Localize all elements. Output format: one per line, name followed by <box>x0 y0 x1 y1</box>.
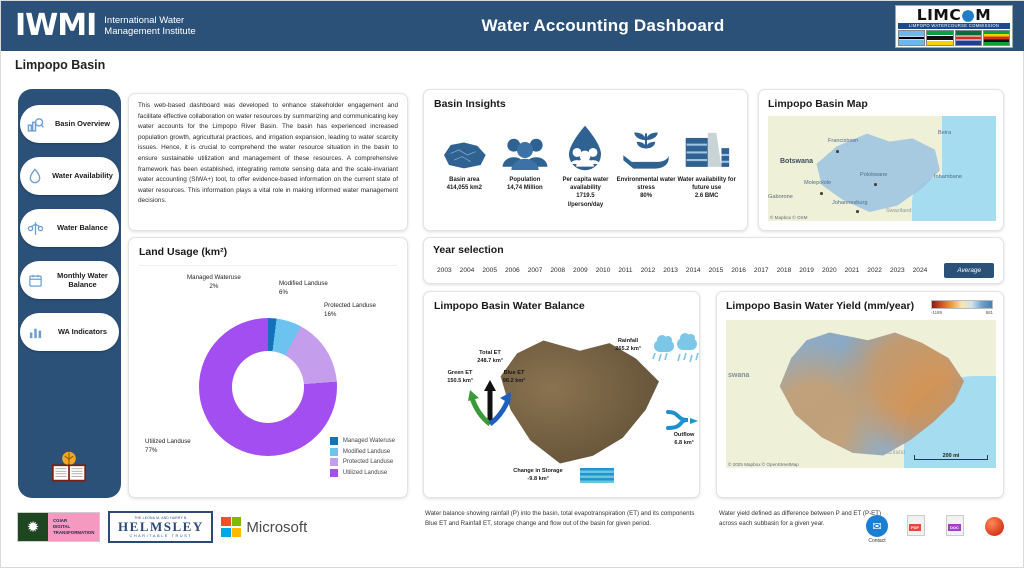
insight-population: Population14,74 Million <box>495 116 556 209</box>
zimbabwe-flag-icon <box>983 30 1010 46</box>
year-button-2018[interactable]: 2018 <box>773 265 796 276</box>
legend-swatch <box>330 448 338 456</box>
year-button-2007[interactable]: 2007 <box>524 265 547 276</box>
hand-plant-icon <box>616 116 677 172</box>
year-button-2017[interactable]: 2017 <box>750 265 773 276</box>
land-usage-title: Land Usage (km²) <box>139 246 397 258</box>
map-label-francistown: Francistown <box>828 138 858 144</box>
scalebar-line <box>914 459 988 460</box>
colorbar-min: -1189 <box>931 310 942 315</box>
year-button-2023[interactable]: 2023 <box>886 265 909 276</box>
water-yield-colorbar: -1189 881 <box>931 300 993 315</box>
book-icon[interactable] <box>48 450 90 484</box>
year-button-2021[interactable]: 2021 <box>841 265 864 276</box>
map-attribution: © 2025 Mapbox © OpenStreetMap <box>728 462 799 467</box>
basin-map-icon <box>434 116 495 172</box>
footer-actions: ✉ Contact PDF DOC <box>862 515 1009 544</box>
pdf-download-icon: PDF <box>907 515 925 536</box>
insight-environmental-water-stress: Environmental water stress80% <box>616 116 677 209</box>
map-label-botswana: Botswana <box>780 158 813 165</box>
legend-label: Utilized Landuse <box>343 470 387 476</box>
microsoft-squares-icon <box>221 517 241 537</box>
year-button-2015[interactable]: 2015 <box>705 265 728 276</box>
app-header: IWMI International Water Management Inst… <box>1 1 1024 51</box>
basin-insights-list: Basin area414,055 km2 Population14,74 Mi… <box>434 116 737 209</box>
microsoft-wordmark: Microsoft <box>246 519 307 536</box>
year-button-2005[interactable]: 2005 <box>478 265 501 276</box>
map-scalebar: 200 mi <box>914 453 988 460</box>
water-balance-diagram: Total ET248.7 km³ Green ET150.5 km³ Blue… <box>434 316 689 491</box>
iwmi-name-line1: International Water <box>104 15 195 26</box>
map-dot <box>874 183 877 186</box>
flow-label-outflow: Outflow6.8 km³ <box>662 432 706 447</box>
rain-cloud-icon <box>654 340 674 352</box>
insight-label: Water availability for future use2.6 BMC <box>676 176 737 201</box>
year-buttons-row: 2003200420052006200720082009201020112012… <box>433 263 994 278</box>
map-attribution: © Mapbox © OSM <box>770 215 807 220</box>
rain-drops-icon <box>652 352 708 368</box>
map-label-molepolole: Molepolole <box>804 180 831 186</box>
sidebar-item-monthly-water-balance[interactable]: Monthly Water Balance <box>20 261 119 299</box>
insight-label: Basin area414,055 km2 <box>434 176 495 192</box>
year-selection-title: Year selection <box>433 244 994 256</box>
insight-basin-area: Basin area414,055 km2 <box>434 116 495 209</box>
legend-label: Managed Wateruse <box>343 438 395 444</box>
water-balance-title: Limpopo Basin Water Balance <box>434 300 689 312</box>
et-arrows-icon <box>456 378 518 426</box>
map-label-beira: Beira <box>938 130 951 136</box>
globe-icon <box>985 517 1004 536</box>
iwmi-name-line2: Management Institute <box>104 26 195 37</box>
report-download-icon: DOC <box>946 515 964 536</box>
basin-overview-icon <box>20 116 50 133</box>
member-country-flags <box>898 30 1010 46</box>
basin-map-canvas[interactable]: Botswana Francistown Beira Polokwane Inh… <box>768 116 996 221</box>
bar-chart-icon <box>20 325 50 340</box>
donut-ring <box>199 318 337 456</box>
dashboard-description-card: This web-based dashboard was developed t… <box>128 93 408 231</box>
sidebar-item-label: Basin Overview <box>50 119 119 129</box>
people-icon <box>495 116 556 172</box>
map-label-polokwane: Polokwane <box>860 172 887 178</box>
year-button-2010[interactable]: 2010 <box>592 265 615 276</box>
droplet-people-icon <box>555 116 616 172</box>
year-button-2020[interactable]: 2020 <box>818 265 841 276</box>
limcom-wordmark: LIMC●M <box>898 7 1010 23</box>
land-usage-donut-chart: Managed Wateruse2% Modified Landuse6% Pr… <box>139 266 397 481</box>
helmsley-main: HELMSLEY <box>118 520 204 534</box>
year-button-2008[interactable]: 2008 <box>546 265 569 276</box>
colorbar-labels: -1189 881 <box>931 310 993 315</box>
year-button-2006[interactable]: 2006 <box>501 265 524 276</box>
year-button-2014[interactable]: 2014 <box>682 265 705 276</box>
limcom-subtitle: LIMPOPO WATERCOURSE COMMISSION <box>898 23 1010 29</box>
colorbar-max: 881 <box>986 310 993 315</box>
dashboard-title: Water Accounting Dashboard <box>331 16 875 36</box>
report-download-button[interactable]: DOC <box>940 515 970 536</box>
year-button-2022[interactable]: 2022 <box>863 265 886 276</box>
helmsley-bottom: CHARITABLE TRUST <box>129 534 192 538</box>
basin-insights-card: Basin Insights Basin area414,055 km2 <box>423 89 748 231</box>
donut-label-modified-landuse: Modified Landuse6% <box>279 280 328 297</box>
cgiar-line3: TRANSFORMATION <box>53 530 94 536</box>
globe-button[interactable] <box>979 515 1009 536</box>
map-label-botswana: swana <box>728 372 749 379</box>
reservoir-storage-icon <box>580 468 614 483</box>
map-dot <box>820 192 823 195</box>
legend-item[interactable]: Managed Wateruse <box>330 437 395 445</box>
calendar-icon <box>20 273 50 288</box>
insight-label: Environmental water stress80% <box>616 176 677 201</box>
helmsley-logo: THE LEONA M. AND HARRY B. HELMSLEY CHARI… <box>108 511 213 543</box>
year-button-2003[interactable]: 2003 <box>433 265 456 276</box>
legend-label: Protected Landuse <box>343 459 393 465</box>
water-drop-icon <box>20 168 50 184</box>
legend-item[interactable]: Utilized Landuse <box>330 469 395 477</box>
flow-label-rainfall: Rainfall265.2 km³ <box>602 338 654 353</box>
pdf-download-button[interactable]: PDF <box>901 515 931 536</box>
rain-cloud-icon <box>677 338 697 350</box>
water-balance-icon <box>20 220 50 237</box>
donut-label-utilized-landuse: Utilized Landuse77% <box>145 438 191 455</box>
river-outflow-icon <box>666 408 700 432</box>
basin-insights-title: Basin Insights <box>434 98 737 110</box>
map-label-gaborone: Gaborone <box>768 194 793 200</box>
legend-item[interactable]: Modified Landuse <box>330 448 395 456</box>
map-label-swaziland: Swaziland <box>886 208 912 214</box>
year-button-2012[interactable]: 2012 <box>637 265 660 276</box>
basin-map-title: Limpopo Basin Map <box>768 98 994 110</box>
donut-label-managed-wateruse: Managed Wateruse2% <box>187 274 241 291</box>
year-selection-card: Year selection 2003200420052006200720082… <box>423 237 1004 284</box>
water-balance-card: Limpopo Basin Water Balance Total ET248.… <box>423 291 700 498</box>
partner-logos: ✹ CGIAR DIGITAL TRANSFORMATION THE LEONA… <box>17 511 307 543</box>
dashboard-page: IWMI International Water Management Inst… <box>0 0 1024 568</box>
sidebar-item-water-availability[interactable]: Water Availability <box>20 157 119 195</box>
sidebar-item-label: WA Indicators <box>50 327 119 337</box>
contact-label: Contact <box>862 538 892 544</box>
microsoft-logo: Microsoft <box>221 517 307 537</box>
flow-label-change-in-storage: Change in Storage-9.8 km³ <box>502 468 574 483</box>
iwmi-org-name: International Water Management Institute <box>96 15 195 37</box>
dam-icon <box>676 116 737 172</box>
insight-label: Population14,74 Million <box>495 176 556 192</box>
map-dot <box>836 150 839 153</box>
sidebar-item-label: Monthly Water Balance <box>50 271 119 290</box>
page-title: Limpopo Basin <box>15 58 105 72</box>
year-button-2024[interactable]: 2024 <box>909 265 932 276</box>
year-button-2011[interactable]: 2011 <box>614 265 636 276</box>
year-button-2019[interactable]: 2019 <box>795 265 818 276</box>
water-balance-caption: Water balance showing rainfall (P) into … <box>425 509 697 529</box>
iwmi-brand: IWMI International Water Management Inst… <box>1 11 331 41</box>
limcom-logo: LIMC●M LIMPOPO WATERCOURSE COMMISSION <box>895 5 1013 48</box>
description-text: This web-based dashboard was developed t… <box>138 101 398 207</box>
cgiar-mark-icon: ✹ <box>18 513 48 541</box>
year-average-button[interactable]: Average <box>944 263 994 278</box>
south-africa-flag-icon <box>955 30 982 46</box>
land-usage-card: Land Usage (km²) Managed Wateruse2% Modi… <box>128 237 408 498</box>
legend-swatch <box>330 469 338 477</box>
colorbar-gradient <box>931 300 993 309</box>
cgiar-logo: ✹ CGIAR DIGITAL TRANSFORMATION <box>17 512 100 542</box>
legend-label: Modified Landuse <box>343 449 390 455</box>
legend-swatch <box>330 437 338 445</box>
legend-item[interactable]: Protected Landuse <box>330 458 395 466</box>
basin-terrain-3d <box>494 338 659 466</box>
botswana-flag-icon <box>898 30 925 46</box>
sidebar-item-basin-overview[interactable]: Basin Overview <box>20 105 119 143</box>
basin-map-card: Limpopo Basin Map Botswana Francistown B… <box>758 89 1004 231</box>
cgiar-wordmark: CGIAR DIGITAL TRANSFORMATION <box>48 513 99 541</box>
insight-per-capita-water: Per capita water availability1719.5l/per… <box>555 116 616 209</box>
contact-mail-icon: ✉ <box>866 515 888 537</box>
sidebar-item-wa-indicators[interactable]: WA Indicators <box>20 313 119 351</box>
map-label-inhambane: Inhambane <box>934 174 962 180</box>
iwmi-logo: IWMI <box>15 11 96 41</box>
limcom-brand: LIMC●M LIMPOPO WATERCOURSE COMMISSION <box>875 5 1024 48</box>
insight-water-availability-future: Water availability for future use2.6 BMC <box>676 116 737 209</box>
contact-button[interactable]: ✉ Contact <box>862 515 892 544</box>
sidebar-item-label: Water Availability <box>50 171 119 181</box>
year-button-2004[interactable]: 2004 <box>456 265 479 276</box>
mozambique-flag-icon <box>926 30 953 46</box>
sidebar-nav: Basin Overview Water Availability Water … <box>18 89 121 498</box>
land-usage-legend: Managed Wateruse Modified Landuse Protec… <box>330 437 395 479</box>
map-label-swaziland: Swaziland <box>878 450 905 456</box>
year-button-2013[interactable]: 2013 <box>659 265 682 276</box>
flow-label-total-et: Total ET248.7 km³ <box>462 350 518 365</box>
map-dot <box>856 210 859 213</box>
year-button-2016[interactable]: 2016 <box>727 265 750 276</box>
map-label-johannesburg: Johannesburg <box>832 200 867 206</box>
donut-label-protected-landuse: Protected Landuse16% <box>324 302 376 319</box>
insight-label: Per capita water availability1719.5l/per… <box>555 176 616 209</box>
year-button-2009[interactable]: 2009 <box>569 265 592 276</box>
sidebar-item-label: Water Balance <box>50 223 119 233</box>
water-yield-card: Limpopo Basin Water Yield (mm/year) -118… <box>716 291 1004 498</box>
water-yield-map-canvas[interactable]: swana Swaziland © 2025 Mapbox © OpenStre… <box>726 320 996 468</box>
legend-swatch <box>330 458 338 466</box>
sidebar-item-water-balance[interactable]: Water Balance <box>20 209 119 247</box>
